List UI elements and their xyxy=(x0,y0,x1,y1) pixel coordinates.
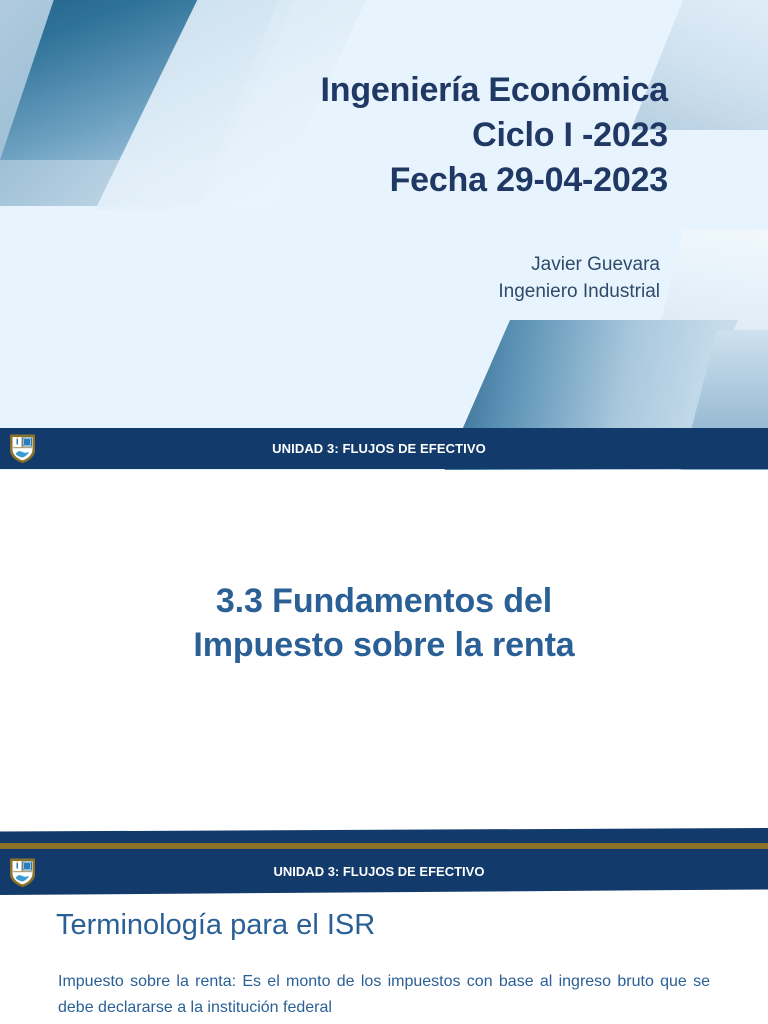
section-heading: 3.3 Fundamentos del Impuesto sobre la re… xyxy=(0,580,768,667)
section-heading-line-1: 3.3 Fundamentos del xyxy=(0,580,768,624)
section-heading-line-2: Impuesto sobre la renta xyxy=(0,624,768,668)
banner-top-navy-stripe xyxy=(0,828,768,844)
slide-title: Ingeniería Económica Ciclo I -2023 Fecha… xyxy=(0,0,768,470)
title-line-3: Fecha 29-04-2023 xyxy=(68,158,668,203)
unit-banner-label-3: UNIDAD 3: FLUJOS DE EFECTIVO xyxy=(0,849,768,893)
university-shield-icon xyxy=(9,857,36,888)
author-name: Javier Guevara xyxy=(140,252,660,279)
content-paragraph: Impuesto sobre la renta: Es el monto de … xyxy=(58,969,710,1021)
presentation-page: Ingeniería Económica Ciclo I -2023 Fecha… xyxy=(0,0,768,1024)
slide-content: UNIDAD 3: FLUJOS DE EFECTIVO xyxy=(0,826,768,1024)
author-role: Ingeniero Industrial xyxy=(140,279,660,306)
unit-banner-slide-3: UNIDAD 3: FLUJOS DE EFECTIVO xyxy=(0,826,768,897)
unit-banner-slide-1: UNIDAD 3: FLUJOS DE EFECTIVO xyxy=(0,428,768,469)
title-line-2: Ciclo I -2023 xyxy=(68,113,668,158)
university-shield-icon xyxy=(9,433,36,464)
unit-banner-label-1: UNIDAD 3: FLUJOS DE EFECTIVO xyxy=(0,428,768,469)
title-line-1: Ingeniería Económica xyxy=(68,68,668,113)
presentation-title: Ingeniería Económica Ciclo I -2023 Fecha… xyxy=(68,68,668,203)
content-subheading: Terminología para el ISR xyxy=(56,908,375,943)
author-block: Javier Guevara Ingeniero Industrial xyxy=(140,252,660,306)
